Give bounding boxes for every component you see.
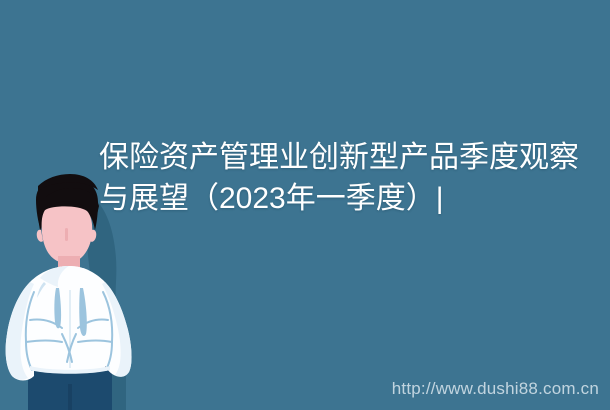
nose <box>65 228 68 241</box>
watermark-url: http://www.dushi88.com.cn <box>392 379 599 399</box>
poster-canvas: 保险资产管理业创新型产品季度观察与展望（2023年一季度）| http://ww… <box>0 0 610 410</box>
page-title-text: 保险资产管理业创新型产品季度观察与展望（2023年一季度）| <box>99 137 599 219</box>
face <box>37 206 97 263</box>
page-title: 保险资产管理业创新型产品季度观察与展望（2023年一季度）| <box>99 137 599 219</box>
